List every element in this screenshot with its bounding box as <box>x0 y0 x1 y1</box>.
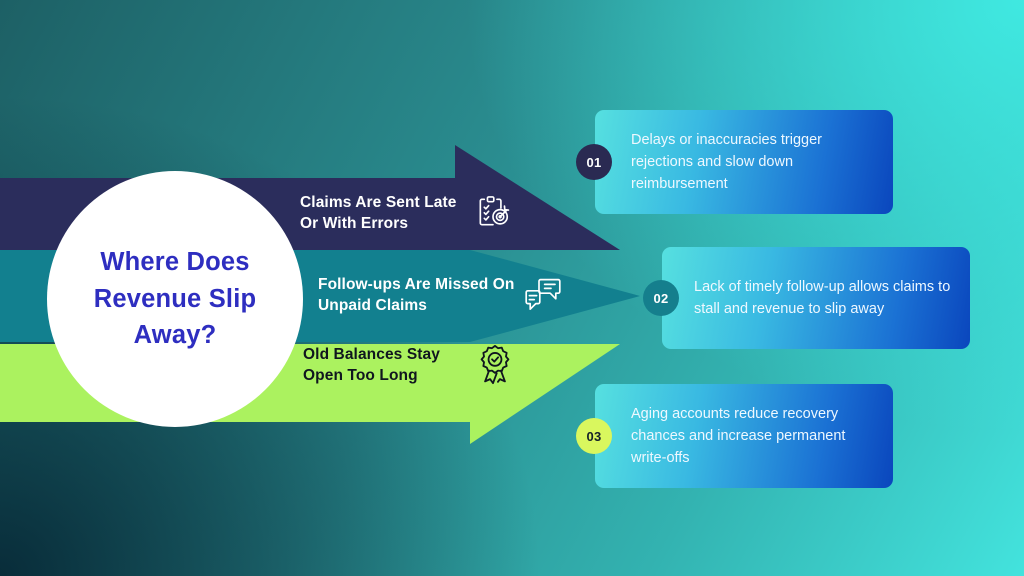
arrow-content-2: Follow-ups Are Missed On Unpaid Claims <box>318 275 563 318</box>
detail-card-01[interactable]: 01 Delays or inaccuracies trigger reject… <box>595 110 893 214</box>
arrow-label-3: Old Balances Stay Open Too Long <box>303 345 475 387</box>
arrow-label-1: Claims Are Sent Late Or With Errors <box>300 193 474 235</box>
clipboard-target-icon <box>474 193 512 236</box>
card-badge-03: 03 <box>576 418 612 454</box>
main-title-circle: Where Does Revenue Slip Away? <box>47 171 303 427</box>
award-ribbon-icon <box>475 343 515 390</box>
card-text-03: Aging accounts reduce recovery chances a… <box>631 403 875 469</box>
arrow-content-1: Claims Are Sent Late Or With Errors <box>300 193 512 236</box>
card-badge-01: 01 <box>576 144 612 180</box>
card-text-02: Lack of timely follow-up allows claims t… <box>694 276 956 320</box>
arrow-content-3: Old Balances Stay Open Too Long <box>303 343 515 390</box>
arrow-label-2: Follow-ups Are Missed On Unpaid Claims <box>318 275 523 317</box>
infographic-canvas: Claims Are Sent Late Or With Errors <box>0 0 1024 576</box>
chat-bubbles-icon <box>523 275 563 318</box>
page-title: Where Does Revenue Slip Away? <box>47 244 303 355</box>
card-text-01: Delays or inaccuracies trigger rejection… <box>631 129 875 195</box>
detail-card-02[interactable]: 02 Lack of timely follow-up allows claim… <box>662 247 970 349</box>
card-badge-02: 02 <box>643 280 679 316</box>
detail-card-03[interactable]: 03 Aging accounts reduce recovery chance… <box>595 384 893 488</box>
